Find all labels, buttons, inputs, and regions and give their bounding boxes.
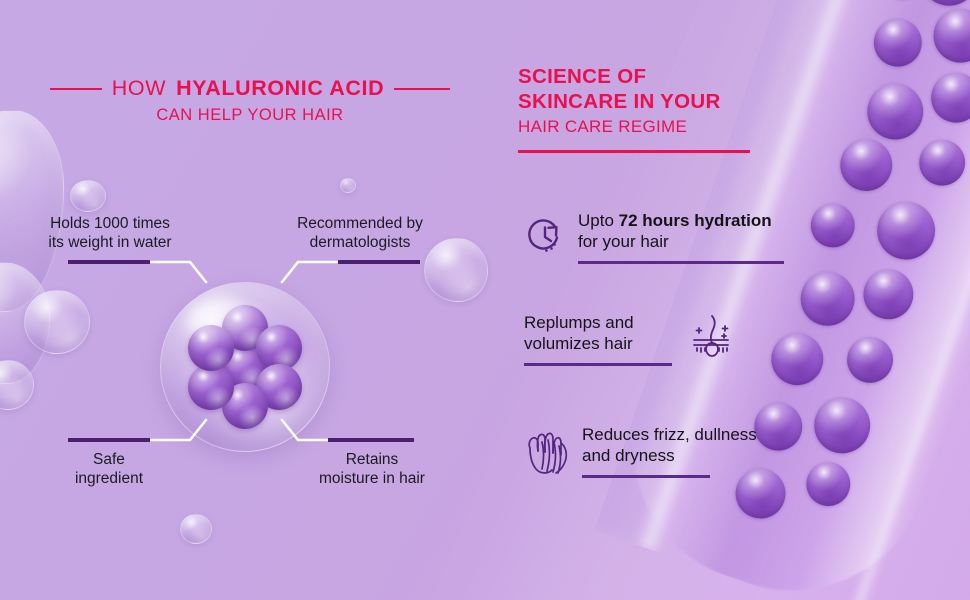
callout-retains-moisture-line2: moisture in hair: [292, 469, 452, 488]
callout-holds-water-line1: Holds 1000 times: [32, 214, 188, 233]
feature-volume-line2: volumizes hair: [524, 333, 672, 354]
callout-retains-moisture: Retains moisture in hair: [292, 450, 452, 488]
callout-safe-ingredient: Safe ingredient: [38, 450, 180, 488]
callout-safe-ingredient-line2: ingredient: [38, 469, 180, 488]
callout-holds-water-line2: its weight in water: [32, 233, 188, 252]
feature-volume-line1: Replumps and: [524, 312, 672, 333]
feature-hydration-underline: [578, 261, 784, 264]
callout-recommended: Recommended by dermatologists: [272, 214, 448, 252]
tube-edge-highlight: [846, 0, 970, 600]
feature-hydration-bold: 72 hours hydration: [619, 211, 772, 230]
right-heading-line3: HAIR CARE REGIME: [518, 117, 750, 137]
feature-frizz: Reduces frizz, dullness and dryness: [524, 424, 757, 478]
callout-bar-top-left: [68, 260, 150, 264]
feature-frizz-line2: and dryness: [582, 445, 757, 466]
callout-bar-bottom-left: [68, 438, 150, 442]
callout-recommended-line1: Recommended by: [272, 214, 448, 233]
feature-hydration-pre: Upto: [578, 211, 619, 230]
clock-refresh-icon: [524, 216, 566, 258]
hand-hair-icon: [524, 424, 574, 480]
callout-holds-water: Holds 1000 times its weight in water: [32, 214, 188, 252]
callout-retains-moisture-line1: Retains: [292, 450, 452, 469]
infographic-canvas: HOW HYALURONIC ACID CAN HELP YOUR HAIR S…: [0, 0, 970, 600]
right-heading-line1: SCIENCE OF: [518, 64, 750, 89]
feature-hydration-line1: Upto 72 hours hydration: [578, 210, 784, 231]
feature-hydration: Upto 72 hours hydration for your hair: [524, 210, 784, 264]
right-heading: SCIENCE OF SKINCARE IN YOUR HAIR CARE RE…: [518, 64, 750, 153]
hair-follicle-icon: [688, 312, 734, 362]
feature-hydration-line2: for your hair: [578, 231, 784, 252]
feature-frizz-line1: Reduces frizz, dullness: [582, 424, 757, 445]
callout-recommended-line2: dermatologists: [272, 233, 448, 252]
feature-volume: Replumps and volumizes hair: [524, 312, 672, 366]
feature-frizz-underline: [582, 475, 710, 478]
callout-bar-top-right: [338, 260, 420, 264]
right-heading-line2: SKINCARE IN YOUR: [518, 89, 750, 114]
callout-safe-ingredient-line1: Safe: [38, 450, 180, 469]
right-heading-underline: [518, 150, 750, 153]
feature-volume-underline: [524, 363, 672, 366]
callout-bar-bottom-right: [328, 438, 414, 442]
